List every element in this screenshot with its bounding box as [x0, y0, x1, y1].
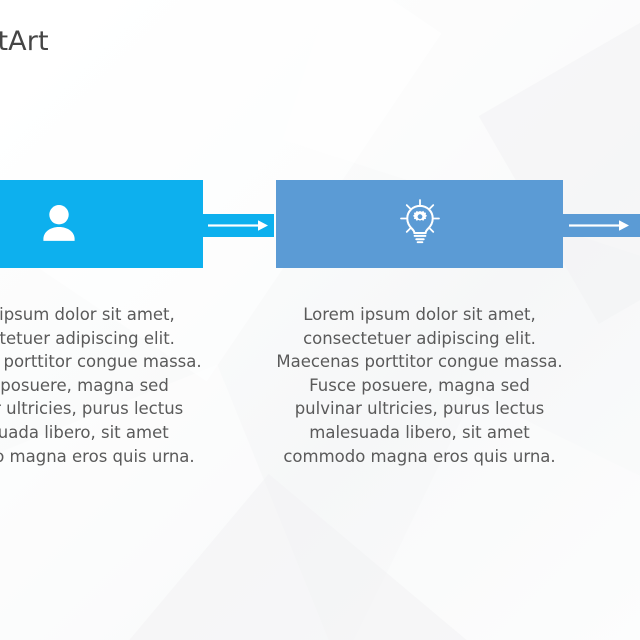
lightbulb-gear-icon — [393, 197, 447, 251]
arrow-right-icon — [569, 219, 631, 232]
node-2-description: Lorem ipsum dolor sit amet, consectetuer… — [276, 303, 563, 468]
background-shape — [479, 0, 640, 324]
connector-arrow-2 — [563, 214, 640, 237]
page-title: SmartArt — [0, 26, 49, 58]
background-shape — [102, 474, 499, 640]
process-node-1[interactable] — [0, 180, 203, 268]
process-node-2[interactable] — [276, 180, 563, 268]
person-icon — [32, 197, 86, 251]
connector-arrow-1 — [203, 214, 274, 237]
node-1-description: Lorem ipsum dolor sit amet, consectetuer… — [0, 303, 203, 468]
slide-canvas: SmartArt — [0, 0, 640, 640]
arrow-right-icon — [208, 219, 270, 232]
